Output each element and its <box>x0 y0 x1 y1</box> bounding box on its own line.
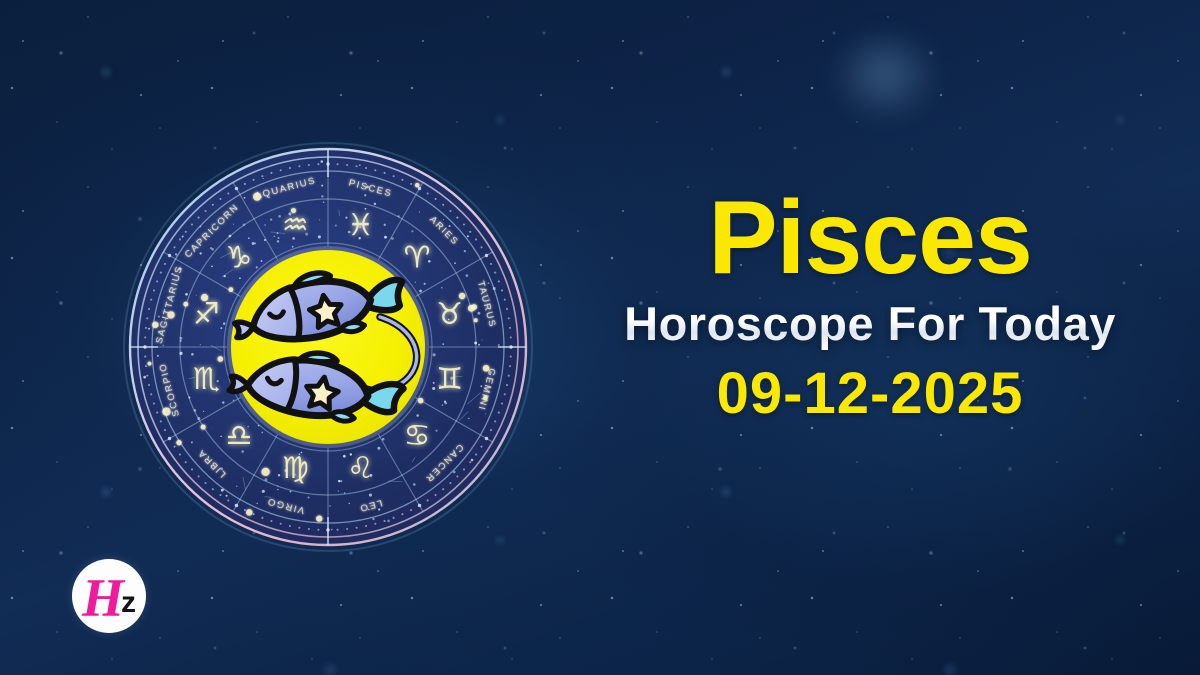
zodiac-glyph-pisces: ♓ <box>347 208 374 243</box>
zodiac-glyph-libra: ♎ <box>225 419 252 454</box>
logo-letter-z: z <box>121 588 136 618</box>
logo-letter-h: H <box>82 571 124 625</box>
svg-text:♊: ♊ <box>436 362 463 397</box>
zodiac-wheel: ♓♈♉♊♋♌♍♎♏♐♑♒ PISCESARIESTAURUSGEMINICANC… <box>123 142 533 552</box>
zodiac-glyph-gemini: ♊ <box>436 362 463 397</box>
page-title: Pisces <box>560 185 1180 291</box>
svg-text:♉: ♉ <box>436 297 463 332</box>
page-subtitle: Horoscope For Today <box>560 297 1180 351</box>
svg-text:♎: ♎ <box>225 419 252 454</box>
svg-text:♏: ♏ <box>193 362 220 397</box>
zodiac-glyph-aries: ♈ <box>404 240 431 275</box>
background-glow-left <box>840 40 930 110</box>
zodiac-glyph-capricorn: ♑ <box>225 240 252 275</box>
horoscope-banner: ♓♈♉♊♋♌♍♎♏♐♑♒ PISCESARIESTAURUSGEMINICANC… <box>0 0 1200 675</box>
svg-text:♐: ♐ <box>193 297 220 332</box>
zodiac-glyph-cancer: ♋ <box>404 419 431 454</box>
svg-text:♓: ♓ <box>347 208 374 243</box>
svg-text:♈: ♈ <box>404 240 431 275</box>
svg-text:♋: ♋ <box>404 419 431 454</box>
svg-text:♍: ♍ <box>282 451 309 486</box>
hero-text-block: Pisces Horoscope For Today 09-12-2025 <box>560 185 1180 428</box>
svg-text:♌: ♌ <box>347 451 374 486</box>
brand-logo[interactable]: H z <box>72 559 146 633</box>
zodiac-glyph-sagittarius: ♐ <box>193 297 220 332</box>
zodiac-glyph-aquarius: ♒ <box>282 208 309 243</box>
zodiac-glyph-virgo: ♍ <box>282 451 309 486</box>
zodiac-glyph-taurus: ♉ <box>436 297 463 332</box>
zodiac-glyph-leo: ♌ <box>347 451 374 486</box>
zodiac-glyph-scorpio: ♏ <box>193 362 220 397</box>
svg-text:♒: ♒ <box>282 208 309 243</box>
horoscope-date: 09-12-2025 <box>560 361 1180 428</box>
svg-text:♑: ♑ <box>225 240 252 275</box>
